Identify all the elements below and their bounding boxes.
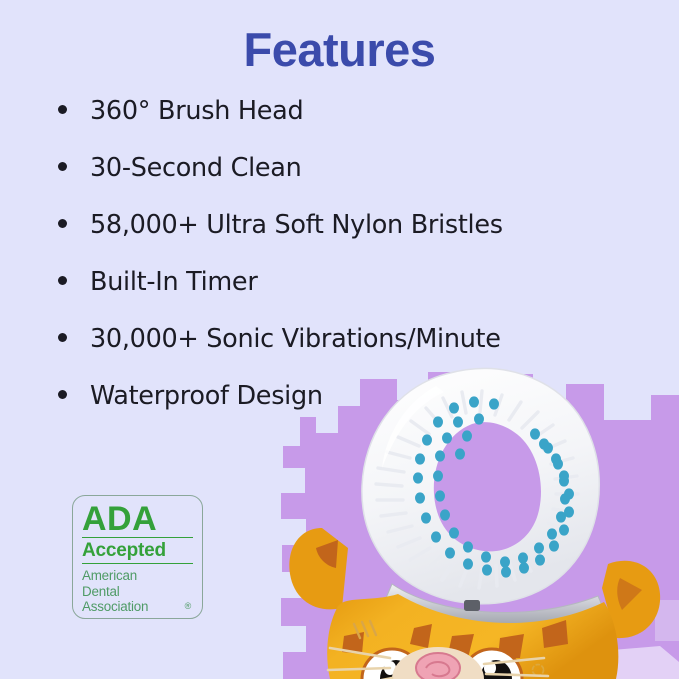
tiger-whiskers [328,648,548,679]
bullet-icon [58,333,67,342]
page-title: Features [0,22,679,77]
ada-org-line-1: American [82,568,193,584]
list-item: Built-In Timer [58,270,618,327]
tiger-eyes [362,649,522,679]
ada-organization: American Dental Association ® [82,564,193,615]
brush-clamp-band [386,584,604,629]
feature-label: 360° Brush Head [90,99,303,125]
tiger-character-handle [289,528,660,679]
list-item: 360° Brush Head [58,99,618,156]
ada-org-line-3: Association [82,599,193,615]
ada-title: ADA [82,501,193,538]
list-item: 30-Second Clean [58,156,618,213]
sparkle-marks [436,657,544,676]
list-item: 58,000+ Ultra Soft Nylon Bristles [58,213,618,270]
bullet-icon [58,105,67,114]
feature-label: 30,000+ Sonic Vibrations/Minute [90,327,501,353]
feature-label: 58,000+ Ultra Soft Nylon Bristles [90,213,503,239]
feature-label: Waterproof Design [90,384,323,410]
registered-trademark-icon: ® [185,599,191,615]
ada-accepted-badge: ADA Accepted American Dental Association… [72,495,203,619]
bullet-icon [58,219,67,228]
list-item: 30,000+ Sonic Vibrations/Minute [58,327,618,384]
bullet-icon [58,390,67,399]
list-item: Waterproof Design [58,384,618,441]
bullet-icon [58,276,67,285]
ada-org-line-2: Dental [82,584,193,600]
feature-label: Built-In Timer [90,270,258,296]
bullet-icon [58,162,67,171]
product-feature-infographic: Features 360° Brush Head 30-Second Clean… [0,0,679,679]
tiger-nose-and-muzzle [392,647,484,679]
tiger-stripes [342,620,568,674]
feature-list: 360° Brush Head 30-Second Clean 58,000+ … [58,99,618,441]
feature-label: 30-Second Clean [90,156,301,182]
fur-tick-marks [354,621,376,638]
ada-accepted-label: Accepted [82,538,193,564]
